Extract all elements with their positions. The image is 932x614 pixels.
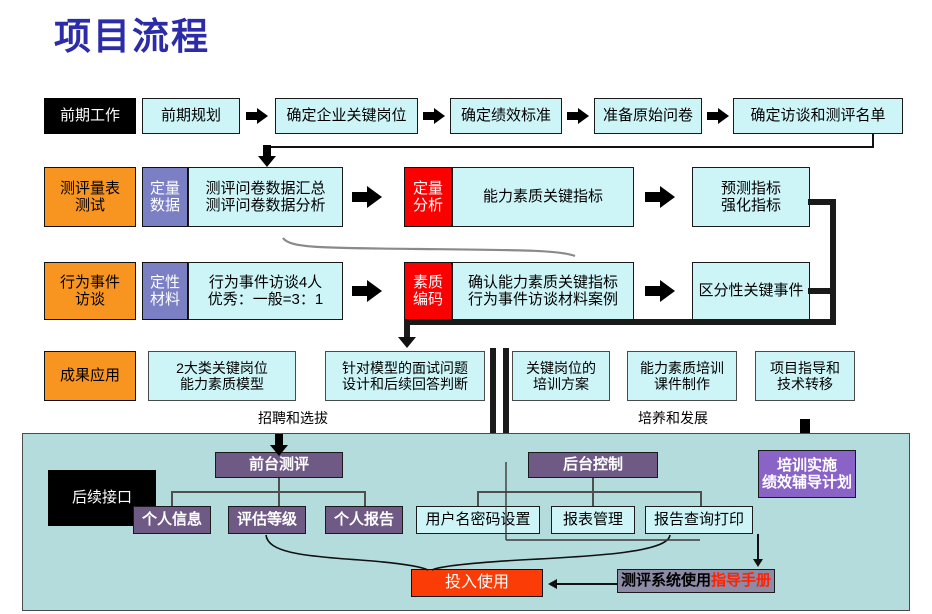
- tree-back-leg-1: [477, 491, 479, 506]
- row1-step-5[interactable]: 确定访谈和测评名单: [733, 98, 903, 134]
- tree-front-stem: [278, 478, 280, 492]
- front-child-2[interactable]: 评估等级: [228, 506, 306, 534]
- flowchart-canvas: 项目流程 前期工作 前期规划 确定企业关键岗位 确定绩效标准 准备原始问卷 确定…: [0, 0, 932, 614]
- arrow-right-icon: [567, 108, 589, 124]
- manual-prefix-label: 测评系统使用: [621, 572, 711, 589]
- row3-result[interactable]: 区分性关键事件: [692, 262, 810, 320]
- row4-label: 成果应用: [44, 351, 136, 401]
- back-child-3[interactable]: 报告查询打印: [645, 506, 753, 534]
- row1-step-2[interactable]: 确定企业关键岗位: [275, 98, 418, 134]
- back-child-2[interactable]: 报表管理: [551, 506, 635, 534]
- row2-stage: 定量 分析: [404, 167, 452, 227]
- row3-stage: 素质 编码: [404, 262, 452, 320]
- connector-manual-drop: [757, 534, 759, 561]
- front-child-1[interactable]: 个人信息: [133, 506, 211, 534]
- row3-detail[interactable]: 行为事件访谈4人 优秀：一般=3：1: [188, 262, 343, 320]
- arrow-right-icon: [246, 108, 268, 124]
- row4-caption-2: 培养和发展: [638, 408, 708, 428]
- connector-manual-to-deploy: [556, 583, 618, 585]
- arrow-right-icon: [352, 186, 382, 208]
- arrow-down-icon: [398, 337, 416, 348]
- row1-label: 前期工作: [44, 98, 136, 134]
- tree-front-leg-1: [171, 491, 173, 506]
- page-title: 项目流程: [54, 6, 210, 60]
- manual-box[interactable]: 测评系统使用指导手册: [617, 569, 775, 593]
- tree-back-stem: [592, 478, 594, 492]
- back-child-1[interactable]: 用户名密码设置: [416, 506, 540, 534]
- tree-front-leg-2: [278, 491, 280, 506]
- tree-back-leg-2: [592, 491, 594, 506]
- row3-stage-detail[interactable]: 确认能力素质关键指标 行为事件访谈材料案例: [452, 262, 634, 320]
- connector-bracket-drop: [404, 319, 410, 339]
- arrow-down-icon: [753, 559, 763, 567]
- connector-bracket-vert: [830, 199, 836, 325]
- row1-step-1[interactable]: 前期规划: [142, 98, 240, 134]
- back-group-header[interactable]: 后台控制: [528, 452, 658, 478]
- row2-result[interactable]: 预测指标 强化指标: [692, 167, 810, 227]
- arrow-left-icon: [548, 579, 557, 589]
- row4-caption-1: 招聘和选拔: [258, 408, 328, 428]
- arrow-right-icon: [645, 186, 675, 208]
- row4-item-4[interactable]: 能力素质培训 课件制作: [627, 351, 737, 401]
- row1-step-4[interactable]: 准备原始问卷: [594, 98, 702, 134]
- connector-bracket-rail: [404, 319, 836, 325]
- tree-back-leg-3: [700, 491, 702, 506]
- deploy-box[interactable]: 投入使用: [411, 569, 543, 597]
- row4-item-5[interactable]: 项目指导和 技术转移: [755, 351, 855, 401]
- row4-item-3[interactable]: 关键岗位的 培训方案: [512, 351, 610, 401]
- row4-item-2[interactable]: 针对模型的面试问题 设计和后续回答判断: [325, 351, 485, 401]
- arrow-right-icon: [352, 280, 382, 302]
- training-plan-box[interactable]: 培训实施 绩效辅导计划: [758, 450, 856, 498]
- arrow-down-icon: [270, 434, 288, 456]
- arrow-right-icon: [645, 280, 675, 302]
- arrow-down-icon: [258, 145, 276, 167]
- row2-label: 测评量表 测试: [44, 167, 136, 227]
- row2-tag: 定量 数据: [142, 167, 188, 227]
- row1-step-3[interactable]: 确定绩效标准: [450, 98, 562, 134]
- row2-detail[interactable]: 测评问卷数据汇总 测评问卷数据分析: [188, 167, 343, 227]
- arrow-right-icon: [423, 108, 445, 124]
- front-child-3[interactable]: 个人报告: [325, 506, 403, 534]
- row3-label: 行为事件 访谈: [44, 262, 136, 320]
- tree-front-leg-3: [364, 491, 366, 506]
- tree-back-bar: [477, 491, 701, 493]
- row2-stage-detail[interactable]: 能力素质关键指标: [452, 167, 634, 227]
- manual-highlight-label: 指导手册: [711, 572, 771, 589]
- row4-item-1[interactable]: 2大类关键岗位 能力素质模型: [148, 351, 296, 401]
- row3-tag: 定性 材料: [142, 262, 188, 320]
- connector-row1-rail: [266, 146, 874, 148]
- tree-front-bar: [171, 491, 365, 493]
- arrow-right-icon: [707, 108, 729, 124]
